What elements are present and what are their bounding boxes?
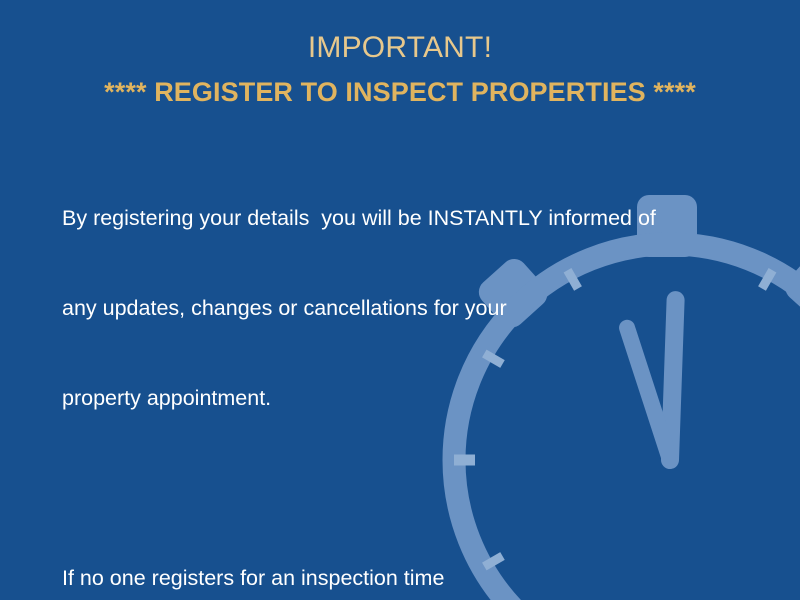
paragraph-no-registration-warning: If no one registers for an inspection ti… xyxy=(62,503,722,600)
paragraph1-line3: property appointment. xyxy=(62,383,722,413)
page-title-register: **** REGISTER TO INSPECT PROPERTIES **** xyxy=(0,76,800,108)
paragraph-registering-details: By registering your details you will be … xyxy=(62,143,722,473)
paragraph1-line1: By registering your details you will be … xyxy=(62,203,722,233)
paragraph-spacer xyxy=(62,473,722,503)
paragraph1-line2: any updates, changes or cancellations fo… xyxy=(62,293,722,323)
promotional-slide: IMPORTANT! **** REGISTER TO INSPECT PROP… xyxy=(0,0,800,600)
paragraph2-line1: If no one registers for an inspection ti… xyxy=(62,563,722,593)
page-title-important: IMPORTANT! xyxy=(0,30,800,67)
body-copy-block: By registering your details you will be … xyxy=(62,143,722,600)
stopwatch-lug-right-icon xyxy=(780,247,800,326)
heading-block: IMPORTANT! **** REGISTER TO INSPECT PROP… xyxy=(0,30,800,108)
